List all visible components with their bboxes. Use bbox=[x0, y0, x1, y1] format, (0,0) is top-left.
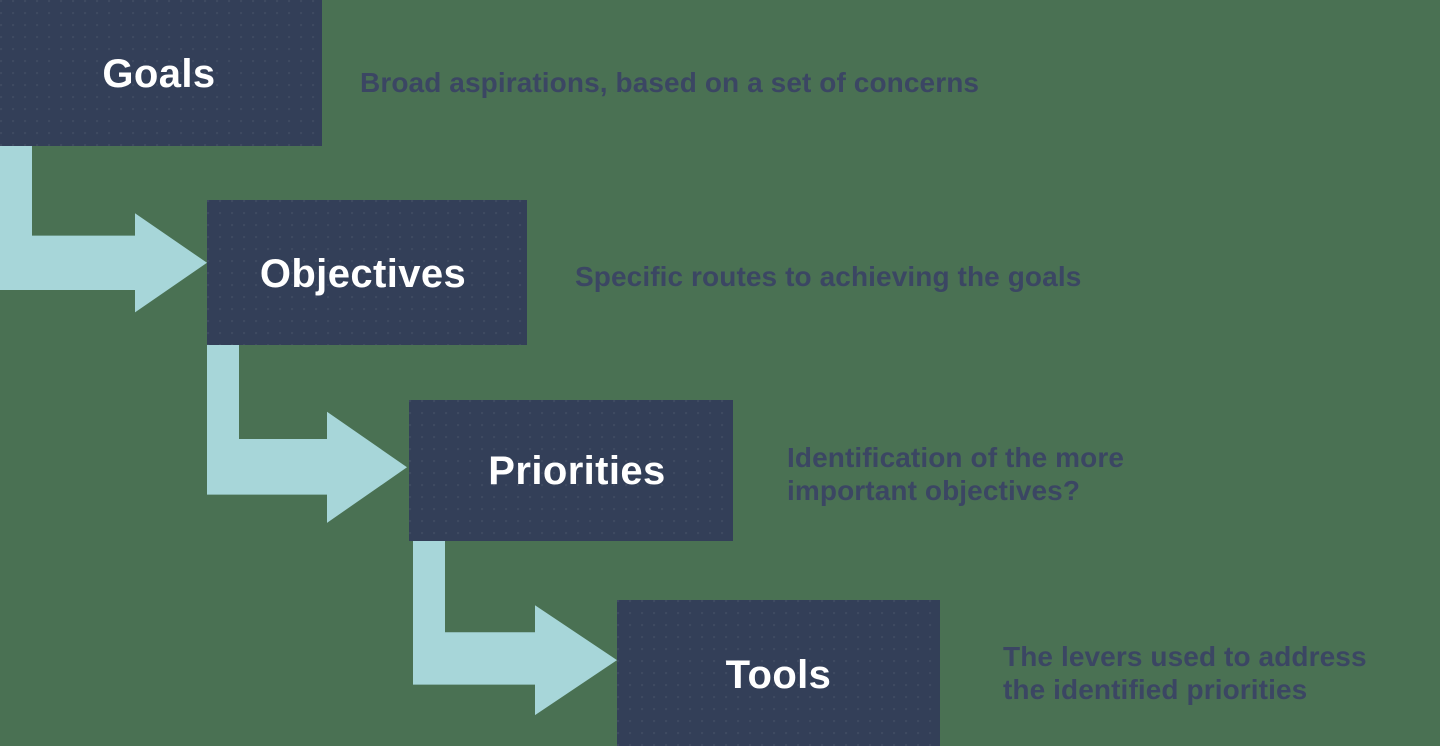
node-box-tools[interactable]: Tools bbox=[617, 600, 940, 746]
node-label-goals: Goals bbox=[102, 54, 215, 94]
process-cascade-diagram: Goals Objectives Priorities Tools Broad … bbox=[0, 0, 1440, 746]
node-box-priorities[interactable]: Priorities bbox=[409, 400, 733, 541]
node-box-goals[interactable]: Goals bbox=[0, 0, 322, 146]
node-box-objectives[interactable]: Objectives bbox=[207, 200, 527, 345]
description-objectives: Specific routes to achieving the goals bbox=[575, 260, 1081, 293]
node-label-tools: Tools bbox=[726, 655, 832, 695]
elbow-arrow-objectives-to-priorities bbox=[207, 345, 417, 520]
node-label-priorities: Priorities bbox=[488, 451, 665, 491]
node-label-objectives: Objectives bbox=[260, 254, 466, 294]
elbow-arrow-path bbox=[413, 541, 617, 715]
elbow-arrow-goals-to-objectives bbox=[0, 146, 220, 326]
description-priorities: Identification of the more important obj… bbox=[787, 441, 1124, 507]
description-goals: Broad aspirations, based on a set of con… bbox=[360, 66, 979, 99]
elbow-arrow-priorities-to-tools bbox=[413, 541, 623, 711]
elbow-arrow-path bbox=[0, 146, 207, 312]
description-tools: The levers used to address the identifie… bbox=[1003, 640, 1367, 706]
elbow-arrow-path bbox=[207, 345, 407, 523]
